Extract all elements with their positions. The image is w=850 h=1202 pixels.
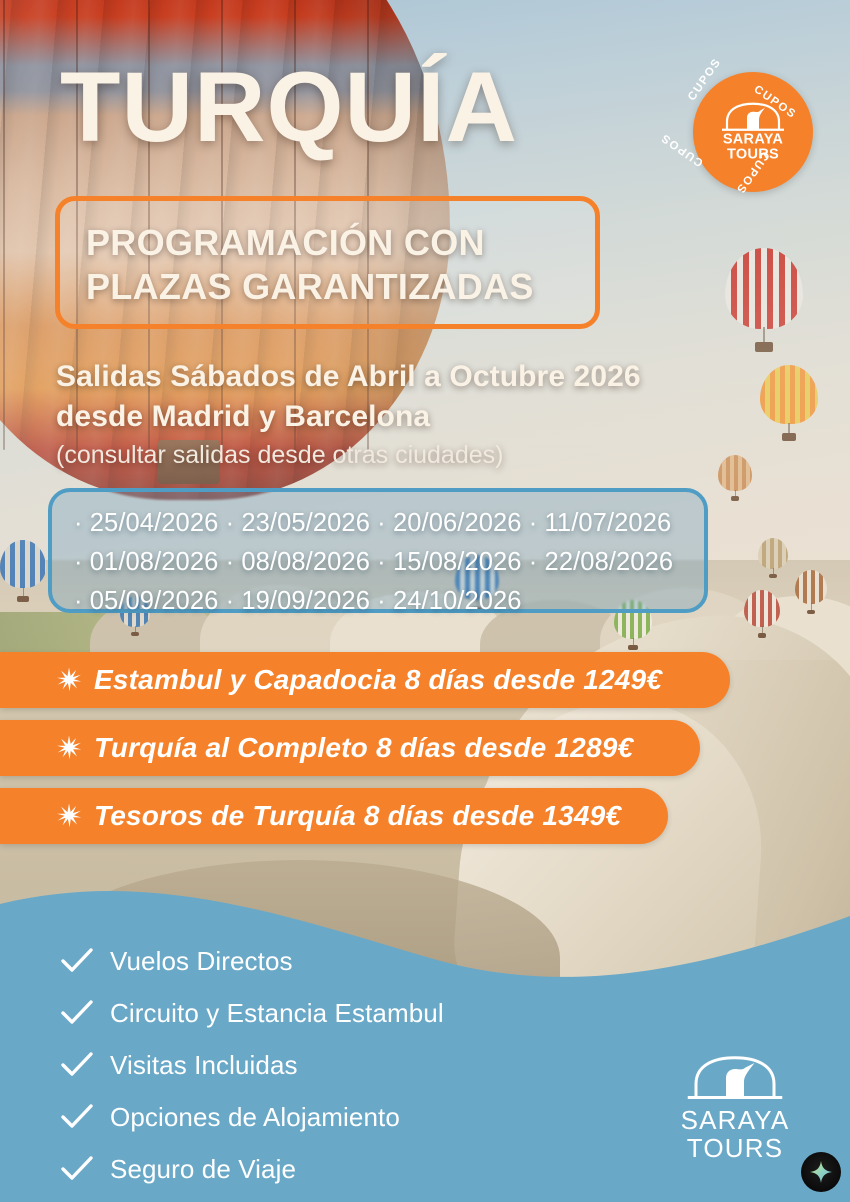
check-icon bbox=[60, 1155, 94, 1183]
arch-camel-icon bbox=[721, 102, 785, 132]
hot-air-balloon-small bbox=[760, 365, 818, 441]
departures-block: Salidas Sábados de Abril a Octubre 2026 … bbox=[56, 357, 641, 472]
include-label: Circuito y Estancia Estambul bbox=[110, 998, 444, 1029]
include-label: Seguro de Viaje bbox=[110, 1154, 296, 1185]
hot-air-balloon-small bbox=[758, 538, 788, 578]
departures-note: (consultar salidas desde otras ciudades) bbox=[56, 439, 641, 472]
dates-row: · 01/08/2026 · 08/08/2026 · 15/08/2026 ·… bbox=[74, 543, 704, 582]
include-label: Visitas Incluidas bbox=[110, 1050, 298, 1081]
include-item: Visitas Incluidas bbox=[60, 1039, 444, 1091]
check-icon bbox=[60, 1051, 94, 1079]
offer-bar[interactable]: Turquía al Completo 8 días desde 1289€ bbox=[0, 720, 700, 776]
starburst-icon bbox=[56, 735, 82, 761]
cupos-badge: CUPOS CUPOS CUPOS CUPOS SARAYA TOURS bbox=[693, 72, 813, 192]
departure-dates-box: · 25/04/2026 · 23/05/2026 · 20/06/2026 ·… bbox=[48, 488, 708, 613]
starburst-icon bbox=[56, 803, 82, 829]
departures-line-2: desde Madrid y Barcelona bbox=[56, 397, 641, 437]
dates-row: · 05/09/2026 · 19/09/2026 · 24/10/2026 bbox=[74, 582, 704, 621]
include-item: Circuito y Estancia Estambul bbox=[60, 987, 444, 1039]
footer-logo-line1: SARAYA bbox=[660, 1106, 810, 1134]
page-title: TURQUÍA bbox=[60, 58, 518, 155]
check-icon bbox=[60, 999, 94, 1027]
promo-line-1: PROGRAMACIÓN CON bbox=[86, 221, 534, 265]
badge-brand-line1: SARAYA bbox=[693, 133, 813, 148]
poster-root: TURQUÍA CUPOS CUPOS CUPOS CUPOS SARAYA T… bbox=[0, 0, 850, 1202]
hot-air-balloon-small bbox=[744, 590, 780, 638]
hot-air-balloon-small bbox=[0, 540, 46, 602]
arch-camel-icon bbox=[687, 1055, 783, 1101]
hot-air-balloon-small bbox=[795, 570, 827, 614]
include-item: Opciones de Alojamiento bbox=[60, 1091, 444, 1143]
include-item: Seguro de Viaje bbox=[60, 1143, 444, 1195]
includes-list: Vuelos Directos Circuito y Estancia Esta… bbox=[60, 935, 444, 1195]
offer-label: Turquía al Completo 8 días desde 1289€ bbox=[94, 732, 633, 764]
promo-box: PROGRAMACIÓN CON PLAZAS GARANTIZADAS bbox=[55, 196, 600, 329]
four-point-star-icon bbox=[809, 1160, 833, 1184]
include-item: Vuelos Directos bbox=[60, 935, 444, 987]
offer-bar[interactable]: Tesoros de Turquía 8 días desde 1349€ bbox=[0, 788, 668, 844]
footer-logo-line2: TOURS bbox=[660, 1134, 810, 1162]
check-icon bbox=[60, 947, 94, 975]
dates-row: · 25/04/2026 · 23/05/2026 · 20/06/2026 ·… bbox=[74, 504, 704, 543]
include-label: Vuelos Directos bbox=[110, 946, 293, 977]
offer-label: Estambul y Capadocia 8 días desde 1249€ bbox=[94, 664, 662, 696]
badge-brand: SARAYA TOURS bbox=[693, 102, 813, 163]
hot-air-balloon-small bbox=[725, 248, 803, 352]
badge-brand-line2: TOURS bbox=[693, 148, 813, 163]
promo-text: PROGRAMACIÓN CON PLAZAS GARANTIZADAS bbox=[86, 221, 534, 309]
check-icon bbox=[60, 1103, 94, 1131]
include-label: Opciones de Alojamiento bbox=[110, 1102, 400, 1133]
hot-air-balloon-small bbox=[718, 455, 752, 501]
offer-bar[interactable]: Estambul y Capadocia 8 días desde 1249€ bbox=[0, 652, 730, 708]
offer-label: Tesoros de Turquía 8 días desde 1349€ bbox=[94, 800, 621, 832]
watermark-badge bbox=[801, 1152, 841, 1192]
offers-list: Estambul y Capadocia 8 días desde 1249€ … bbox=[0, 652, 850, 856]
footer-logo: SARAYA TOURS bbox=[660, 1055, 810, 1162]
promo-line-2: PLAZAS GARANTIZADAS bbox=[86, 265, 534, 309]
departures-line-1: Salidas Sábados de Abril a Octubre 2026 bbox=[56, 357, 641, 397]
starburst-icon bbox=[56, 667, 82, 693]
